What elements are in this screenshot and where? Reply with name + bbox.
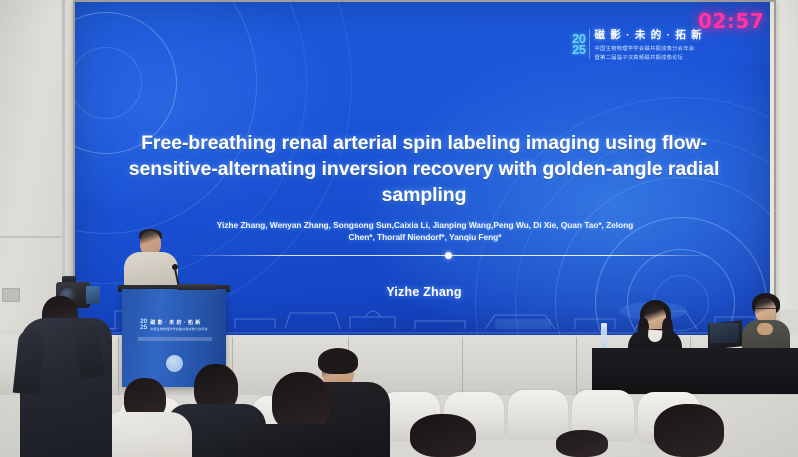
audience-hair xyxy=(318,348,358,374)
logo-year: 20 25 xyxy=(572,33,585,56)
logo-year-bottom: 25 xyxy=(572,44,585,56)
podium-logo-sub: 中国生物物理学学会磁共振成像分会年会 xyxy=(150,327,208,331)
podium-band xyxy=(138,337,212,341)
wall-socket xyxy=(2,288,20,302)
logo-text-block: 磁 影 · 未 的 · 拓 新 中国生物物理学学会磁共振成像分会年会 暨第二届淄… xyxy=(594,27,702,61)
camera-flip-screen xyxy=(86,286,100,304)
stage-seam xyxy=(462,337,463,395)
glasses-icon xyxy=(755,308,776,313)
podium-emblem xyxy=(166,355,183,372)
countdown-timer: 02:57 xyxy=(698,9,764,33)
audience-body xyxy=(244,424,360,457)
podium-laptop xyxy=(178,284,217,290)
audience-chair xyxy=(508,390,568,438)
panelist-right-hands xyxy=(757,323,773,335)
slide-title: Free-breathing renal arterial spin label… xyxy=(97,130,751,208)
audience-head xyxy=(272,372,330,432)
podium-logo: 20 25 磁 影 · 未 的 · 拓 新 中国生物物理学学会磁共振成像分会年会 xyxy=(140,319,210,331)
podium-year-bottom: 25 xyxy=(140,325,147,331)
stage-seam xyxy=(118,337,119,395)
panel-laptop-screen xyxy=(710,323,739,343)
audience-head xyxy=(556,430,608,457)
audience-body xyxy=(100,412,192,457)
logo-subtitle-2: 暨第二届淄子汉高频磁共振成像论坛 xyxy=(594,53,702,61)
panel-table xyxy=(592,348,798,394)
conference-room-photo: 20 25 磁 影 · 未 的 · 拓 新 中国生物物理学学会磁共振成像分会年会… xyxy=(0,0,798,457)
logo-main-text: 磁 影 · 未 的 · 拓 新 xyxy=(594,27,702,42)
water-bottle xyxy=(601,326,607,348)
logo-subtitle-1: 中国生物物理学学会磁共振成像分会年会 xyxy=(594,44,702,52)
podium-logo-texts: 磁 影 · 未 的 · 拓 新 中国生物物理学学会磁共振成像分会年会 xyxy=(150,319,208,331)
audience-head xyxy=(654,404,724,457)
wall-seam-horizontal xyxy=(0,236,62,238)
logo-divider xyxy=(589,29,590,59)
podium-logo-year: 20 25 xyxy=(140,319,147,331)
stage-seam xyxy=(576,337,577,395)
audience-head xyxy=(410,414,476,457)
slide-authors: Yizhe Zhang, Wenyan Zhang, Songsong Sun,… xyxy=(207,219,643,244)
podium-logo-main: 磁 影 · 未 的 · 拓 新 xyxy=(150,319,208,326)
right-wall xyxy=(770,0,798,310)
slide-divider-dot xyxy=(445,252,452,259)
